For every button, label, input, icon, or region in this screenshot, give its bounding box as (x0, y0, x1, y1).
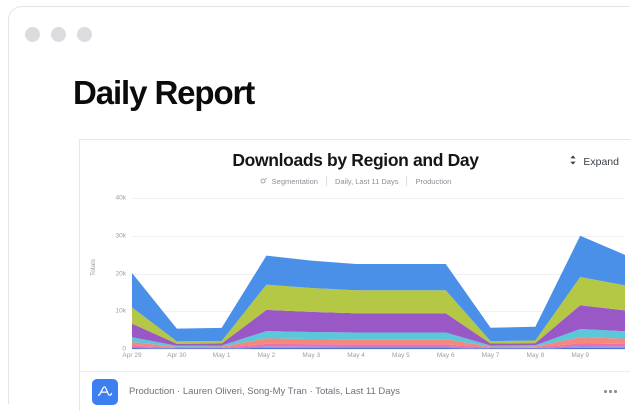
kebab-menu-icon[interactable] (602, 384, 619, 399)
chart-subtitle: Segmentation Daily, Last 11 Days Product… (80, 176, 630, 186)
x-axis-tick-labels: Apr 29Apr 30May 1May 2May 3May 4May 5May… (132, 352, 625, 366)
chart-plot: Totals 010k20k30k40k Apr 29Apr 30May 1Ma… (80, 198, 630, 373)
x-tick-may-2: May 2 (258, 352, 276, 359)
environment-label[interactable]: Production (407, 177, 459, 186)
segmentation-icon (260, 177, 268, 185)
chevron-up-down-icon (568, 154, 578, 169)
maximize-dot[interactable] (77, 27, 92, 42)
window-titlebar (25, 27, 92, 42)
y-tick-10k: 10k (116, 308, 126, 315)
plot-area[interactable] (132, 198, 625, 349)
x-tick-may-9: May 9 (571, 352, 589, 359)
y-tick-20k: 20k (116, 270, 126, 277)
segmentation-chip[interactable]: Segmentation (252, 176, 326, 186)
minimize-dot[interactable] (51, 27, 66, 42)
page-title: Daily Report (73, 73, 254, 113)
y-tick-30k: 30k (116, 232, 126, 239)
x-tick-may-5: May 5 (392, 352, 410, 359)
x-tick-may-7: May 7 (482, 352, 500, 359)
date-range-label[interactable]: Daily, Last 11 Days (327, 177, 407, 186)
chart-title: Downloads by Region and Day (80, 150, 630, 171)
gridline (132, 349, 625, 350)
chart-footer-meta: Production · Lauren Oliveri, Song-My Tra… (129, 386, 400, 397)
expand-label: Expand (583, 156, 619, 168)
x-tick-may-8: May 8 (527, 352, 545, 359)
x-tick-may-4: May 4 (347, 352, 365, 359)
stacked-area-svg (132, 198, 625, 349)
x-tick-may-6: May 6 (437, 352, 455, 359)
y-axis-title: Totals (90, 259, 97, 276)
page-root: Daily Report Downloads by Region and Day… (0, 0, 630, 404)
segmentation-label: Segmentation (272, 177, 318, 186)
chart-card-footer: Production · Lauren Oliveri, Song-My Tra… (80, 371, 630, 411)
browser-window-frame: Daily Report Downloads by Region and Day… (8, 6, 630, 404)
x-tick-apr-29: Apr 29 (122, 352, 141, 359)
x-tick-apr-30: Apr 30 (167, 352, 186, 359)
close-dot[interactable] (25, 27, 40, 42)
y-axis-tick-labels: 010k20k30k40k (102, 198, 126, 349)
y-tick-40k: 40k (116, 195, 126, 202)
chart-card-header: Downloads by Region and Day Segmentation… (80, 140, 630, 198)
chart-card: Downloads by Region and Day Segmentation… (79, 139, 630, 411)
amplitude-logo-icon (92, 379, 118, 405)
x-tick-may-1: May 1 (213, 352, 231, 359)
x-tick-may-3: May 3 (302, 352, 320, 359)
expand-button[interactable]: Expand (568, 154, 619, 169)
